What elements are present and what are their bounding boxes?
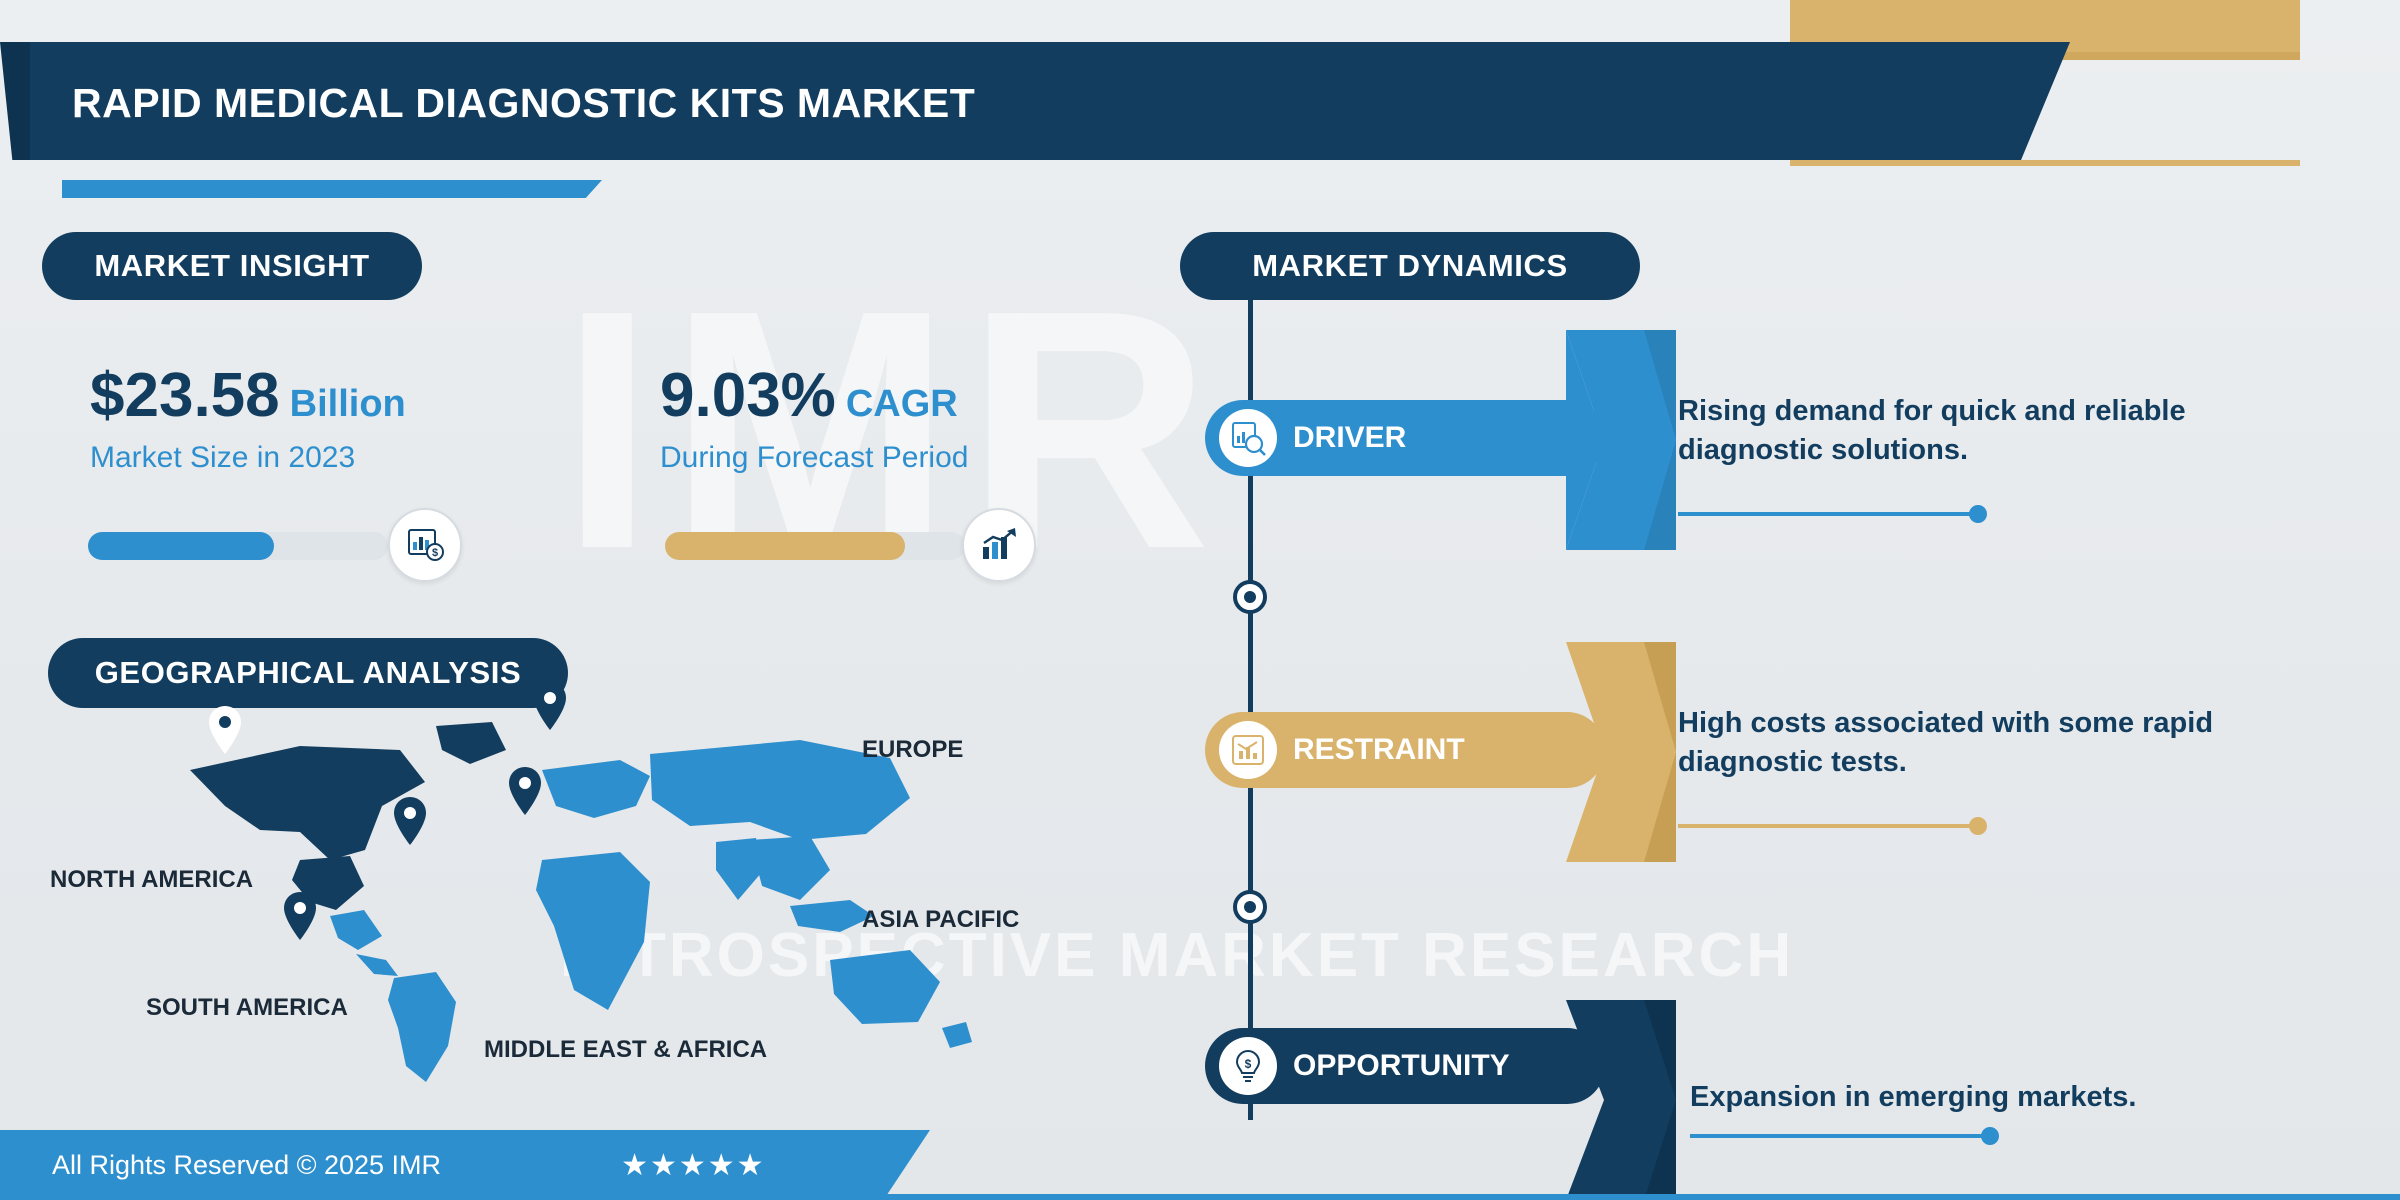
restraint-label: RESTRAINT: [1293, 733, 1465, 767]
analysis-search-icon: [1219, 409, 1277, 467]
section-pill-geographical-analysis: GEOGRAPHICAL ANALYSIS: [48, 638, 568, 708]
kpi-cagr-progress: [665, 528, 965, 564]
kpi-cagr-value: 9.03%: [660, 360, 836, 431]
kpi-cagr-unit: CAGR: [846, 383, 958, 426]
timeline-node-2: [1233, 890, 1267, 924]
driver-badge: DRIVER: [1205, 400, 1605, 476]
timeline-node-1: [1233, 580, 1267, 614]
kpi-cagr: 9.03%CAGR During Forecast Period: [660, 360, 968, 475]
map-label-north-america: NORTH AMERICA: [50, 866, 253, 894]
map-pin-north-america: [205, 704, 245, 763]
map-pin-middle-east-africa: [390, 795, 430, 854]
kpi-market-size-progress: [88, 528, 388, 564]
rating-stars: ★★★★★: [621, 1148, 765, 1183]
progress-fill: [88, 532, 274, 560]
page-title: RAPID MEDICAL DIAGNOSTIC KITS MARKET: [72, 80, 975, 127]
gold-secondary-edge: [1790, 160, 2300, 166]
driver-underline: [1678, 512, 1978, 516]
opportunity-badge: $ OPPORTUNITY: [1205, 1028, 1605, 1104]
declining-bar-chart-icon: [1219, 721, 1277, 779]
opportunity-underline-dot: [1981, 1127, 1999, 1145]
infographic-canvas: IMR INTROSPECTIVE MARKET RESEARCH RAPID …: [0, 0, 2400, 1200]
progress-fill: [665, 532, 905, 560]
map-pin-asia-pacific: [505, 765, 545, 824]
map-label-europe: EUROPE: [862, 736, 963, 764]
restraint-underline: [1678, 824, 1978, 828]
opportunity-label: OPPORTUNITY: [1293, 1049, 1510, 1083]
map-label-middle-east-africa: MIDDLE EAST & AFRICA: [484, 1036, 767, 1064]
driver-text: Rising demand for quick and reliable dia…: [1678, 392, 2298, 470]
map-label-south-america: SOUTH AMERICA: [146, 994, 348, 1022]
kpi-market-size-caption: Market Size in 2023: [90, 441, 406, 475]
section-pill-market-dynamics: MARKET DYNAMICS: [1180, 232, 1640, 300]
bar-chart-dollar-icon: $: [388, 508, 462, 582]
kpi-market-size-value: $23.58: [90, 360, 280, 431]
restraint-text: High costs associated with some rapid di…: [1678, 704, 2298, 782]
section-pill-market-insight: MARKET INSIGHT: [42, 232, 422, 300]
opportunity-text: Expansion in emerging markets.: [1690, 1078, 2310, 1117]
svg-text:$: $: [432, 547, 438, 559]
kpi-cagr-caption: During Forecast Period: [660, 441, 968, 475]
kpi-market-size: $23.58Billion Market Size in 2023: [90, 360, 406, 475]
restraint-badge: RESTRAINT: [1205, 712, 1605, 788]
title-underline-accent: [62, 180, 602, 198]
footer-copyright: All Rights Reserved © 2025 IMR: [52, 1150, 441, 1181]
growth-chart-icon: [962, 508, 1036, 582]
map-label-asia-pacific: ASIA PACIFIC: [862, 906, 1019, 934]
map-pin-europe: [530, 680, 570, 739]
driver-label: DRIVER: [1293, 421, 1406, 455]
lightbulb-dollar-icon: $: [1219, 1037, 1277, 1095]
kpi-market-size-unit: Billion: [290, 383, 406, 426]
footer-bar: All Rights Reserved © 2025 IMR ★★★★★: [0, 1130, 930, 1200]
map-pin-south-america: [280, 890, 320, 949]
driver-underline-dot: [1969, 505, 1987, 523]
svg-text:$: $: [1245, 1057, 1252, 1071]
restraint-underline-dot: [1969, 817, 1987, 835]
opportunity-underline: [1690, 1134, 1990, 1138]
